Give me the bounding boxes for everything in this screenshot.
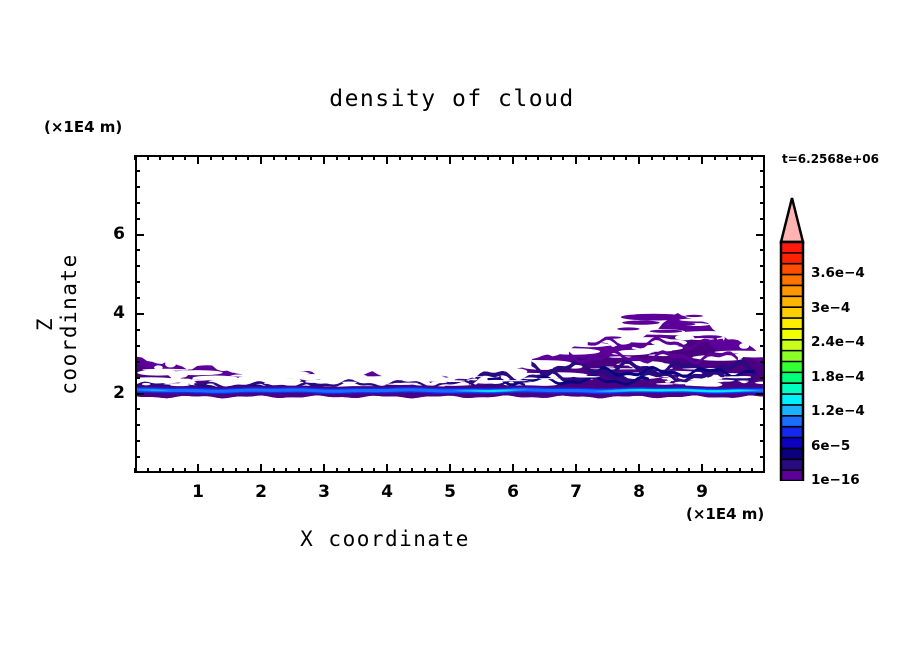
colorbar-tick-label: 6e−5: [811, 438, 850, 454]
colorbar-band: [781, 253, 803, 264]
colorbar-band: [781, 372, 803, 383]
x-tick-label: 6: [493, 482, 533, 502]
x-tick-minor: [562, 468, 564, 473]
cloud-gap: [182, 381, 196, 383]
x-tick-minor: [436, 468, 438, 473]
x-tick-minor: [310, 155, 312, 160]
x-tick-minor: [600, 155, 602, 160]
x-tick-minor: [285, 468, 287, 473]
colorbar-band: [781, 448, 803, 459]
x-tick-major: [323, 155, 325, 164]
y-tick-minor: [760, 440, 765, 442]
cloud-gap: [309, 381, 315, 382]
colorbar-tick-label: 1e−16: [811, 472, 860, 488]
x-tick-major: [512, 155, 514, 164]
cloud-gap: [305, 380, 329, 382]
cloud-gap: [524, 360, 573, 367]
x-tick-minor: [625, 468, 627, 473]
cloud-gap: [471, 379, 477, 381]
cloud-gap: [502, 380, 528, 381]
cloud-gap: [673, 383, 692, 384]
colorbar-band: [781, 416, 803, 427]
x-tick-minor: [663, 468, 665, 473]
cloud-gap: [271, 379, 282, 380]
cloud-gap: [421, 376, 437, 378]
page-title: density of cloud: [0, 86, 904, 112]
x-tick-minor: [247, 468, 249, 473]
colorbar-band: [781, 405, 803, 416]
colorbar-band: [781, 264, 803, 275]
cloud-gap: [142, 383, 151, 385]
plot-area: [135, 155, 765, 473]
cloud-gap: [215, 381, 236, 383]
y-tick-minor: [760, 186, 765, 188]
x-tick-major: [323, 464, 325, 473]
y-tick-label: 6: [85, 224, 125, 244]
colorbar-band: [781, 459, 803, 470]
x-tick-minor: [336, 155, 338, 160]
colorbar-band: [781, 329, 803, 340]
x-tick-minor: [436, 155, 438, 160]
x-tick-minor: [499, 468, 501, 473]
y-tick-major: [135, 393, 144, 395]
colorbar-tick-label: 1.8e−4: [811, 369, 865, 385]
y-tick-major: [756, 313, 765, 315]
x-tick-minor: [361, 468, 363, 473]
colorbar-band: [781, 362, 803, 373]
x-axis-title: X coordinate: [0, 527, 770, 551]
x-tick-minor: [600, 468, 602, 473]
cloud-gap: [342, 382, 357, 384]
y-tick-label: 4: [85, 303, 125, 323]
x-tick-minor: [172, 155, 174, 160]
x-tick-minor: [298, 155, 300, 160]
x-tick-minor: [273, 155, 275, 160]
cloud-gap: [713, 377, 725, 378]
x-tick-minor: [222, 468, 224, 473]
cloud-gap: [691, 334, 701, 335]
colorbar-band: [781, 242, 803, 253]
x-tick-major: [197, 464, 199, 473]
x-tick-minor: [399, 155, 401, 160]
x-tick-minor: [751, 468, 753, 473]
y-tick-minor: [760, 281, 765, 283]
x-tick-minor: [537, 468, 539, 473]
y-tick-minor: [135, 456, 140, 458]
y-tick-major: [756, 393, 765, 395]
x-tick-minor: [159, 468, 161, 473]
x-tick-minor: [310, 468, 312, 473]
x-tick-minor: [537, 155, 539, 160]
x-tick-major: [260, 464, 262, 473]
colorbar-band: [781, 438, 803, 449]
x-tick-minor: [134, 468, 136, 473]
cloud-gap: [363, 378, 385, 380]
x-tick-label: 5: [430, 482, 470, 502]
x-tick-major: [701, 464, 703, 473]
x-tick-minor: [525, 155, 527, 160]
cloud-wisp: [604, 336, 622, 338]
x-tick-major: [449, 155, 451, 164]
y-tick-minor: [135, 281, 140, 283]
y-tick-minor: [135, 202, 140, 204]
x-tick-minor: [550, 468, 552, 473]
cloud-gap: [242, 379, 262, 380]
cloud-gap: [701, 381, 713, 383]
x-tick-label: 4: [367, 482, 407, 502]
colorbar-band: [781, 470, 803, 481]
cloud-gap: [387, 383, 414, 385]
x-tick-minor: [285, 155, 287, 160]
x-tick-minor: [474, 155, 476, 160]
cloud-gap: [739, 343, 749, 349]
colorbar-band: [781, 351, 803, 362]
y-tick-minor: [760, 297, 765, 299]
x-tick-minor: [336, 468, 338, 473]
x-tick-minor: [462, 468, 464, 473]
x-tick-minor: [714, 468, 716, 473]
colorbar-band: [781, 285, 803, 296]
cloud-gap: [541, 352, 551, 355]
colorbar-band: [781, 340, 803, 351]
x-tick-minor: [134, 155, 136, 160]
colorbar-band: [781, 383, 803, 394]
x-tick-minor: [184, 468, 186, 473]
x-tick-minor: [688, 468, 690, 473]
cloud-gap: [679, 318, 720, 321]
cloud-gap: [283, 377, 292, 378]
colorbar-band: [781, 307, 803, 318]
cloud-wisp: [697, 335, 722, 338]
cloud-gap: [220, 383, 228, 385]
x-tick-minor: [210, 155, 212, 160]
cloud-gap: [523, 377, 538, 379]
cloud-wisp: [685, 315, 703, 317]
cloud-gap: [665, 381, 671, 383]
y-tick-minor: [135, 218, 140, 220]
cloud-wisp: [668, 322, 696, 326]
x-tick-label: 8: [619, 482, 659, 502]
x-tick-minor: [714, 155, 716, 160]
x-tick-minor: [550, 155, 552, 160]
colorbar-swatches: [779, 196, 805, 481]
x-tick-minor: [474, 468, 476, 473]
x-tick-major: [512, 464, 514, 473]
y-tick-major: [135, 234, 144, 236]
x-tick-major: [638, 464, 640, 473]
x-tick-label: 7: [556, 482, 596, 502]
x-tick-minor: [525, 468, 527, 473]
cloud-gap: [206, 384, 214, 385]
x-tick-minor: [562, 155, 564, 160]
y-tick-label: 2: [85, 383, 125, 403]
x-tick-minor: [273, 468, 275, 473]
cloud-wisp: [650, 330, 683, 333]
x-tick-minor: [222, 155, 224, 160]
timestamp-label: t=6.2568e+06: [782, 152, 879, 166]
colorbar-tick-label: 3.6e−4: [811, 265, 865, 281]
y-tick-minor: [135, 265, 140, 267]
colorbar: [779, 196, 805, 481]
y-axis-unit-label: (×1E4 m): [44, 118, 122, 136]
y-tick-minor: [135, 329, 140, 331]
x-tick-minor: [739, 155, 741, 160]
y-tick-minor: [135, 377, 140, 379]
cloud-wisp: [622, 320, 660, 324]
cloud-gap: [297, 382, 304, 384]
cloud-gap: [154, 365, 163, 369]
figure-canvas: density of cloud (×1E4 m) t=6.2568e+06 (…: [0, 0, 904, 654]
cloud-gap: [228, 379, 242, 381]
x-tick-major: [197, 155, 199, 164]
y-tick-minor: [760, 424, 765, 426]
x-tick-minor: [235, 468, 237, 473]
cloud-gap: [235, 371, 257, 374]
cloud-gap: [470, 376, 491, 377]
y-tick-minor: [760, 170, 765, 172]
y-tick-minor: [760, 202, 765, 204]
y-tick-minor: [135, 424, 140, 426]
cloud-gap: [282, 379, 302, 381]
x-tick-minor: [676, 155, 678, 160]
y-tick-minor: [135, 186, 140, 188]
y-tick-minor: [760, 456, 765, 458]
x-tick-minor: [688, 155, 690, 160]
x-tick-major: [260, 155, 262, 164]
x-tick-minor: [487, 468, 489, 473]
cloud-gap: [170, 384, 190, 386]
x-tick-minor: [613, 468, 615, 473]
x-tick-minor: [751, 155, 753, 160]
x-tick-minor: [651, 468, 653, 473]
colorbar-tick-label: 1.2e−4: [811, 403, 865, 419]
colorbar-arrow-icon: [781, 198, 803, 242]
cloud-gap: [285, 367, 316, 371]
x-tick-minor: [726, 468, 728, 473]
y-tick-minor: [135, 440, 140, 442]
cloud-gap: [524, 382, 533, 384]
x-tick-minor: [361, 155, 363, 160]
x-tick-minor: [373, 468, 375, 473]
cloud-gap: [192, 378, 200, 379]
x-tick-major: [575, 155, 577, 164]
y-tick-minor: [760, 361, 765, 363]
y-tick-minor: [135, 408, 140, 410]
cloud-wisp: [687, 328, 707, 331]
cloud-gap: [709, 380, 734, 382]
cloud-gap: [264, 382, 281, 384]
cloud-density-contours: [137, 157, 763, 471]
cloud-gap: [168, 372, 187, 378]
x-tick-minor: [247, 155, 249, 160]
x-tick-minor: [147, 155, 149, 160]
cloud-gap: [442, 377, 458, 379]
colorbar-band: [781, 394, 803, 405]
x-axis-unit-label: (×1E4 m): [686, 505, 764, 523]
y-tick-minor: [135, 361, 140, 363]
y-tick-minor: [135, 170, 140, 172]
cloud-gap: [738, 381, 749, 382]
cloud-gap: [171, 379, 179, 381]
contour-field: [137, 157, 763, 471]
cloud-wisp: [621, 314, 686, 321]
x-tick-minor: [726, 155, 728, 160]
x-tick-minor: [235, 155, 237, 160]
x-tick-minor: [172, 468, 174, 473]
cloud-gap: [448, 380, 466, 382]
colorbar-band: [781, 275, 803, 286]
cloud-gap: [538, 378, 560, 379]
x-tick-minor: [625, 155, 627, 160]
colorbar-tick-label: 3e−4: [811, 300, 850, 316]
y-tick-minor: [760, 329, 765, 331]
y-tick-minor: [760, 345, 765, 347]
x-tick-label: 9: [682, 482, 722, 502]
x-tick-major: [638, 155, 640, 164]
cloud-gap: [548, 348, 600, 355]
cloud-gap: [165, 378, 191, 379]
y-tick-minor: [760, 265, 765, 267]
y-tick-minor: [135, 345, 140, 347]
x-tick-minor: [348, 468, 350, 473]
x-tick-minor: [588, 155, 590, 160]
x-tick-minor: [613, 155, 615, 160]
x-tick-label: 2: [241, 482, 281, 502]
y-axis-title: Z coordinate: [33, 244, 81, 404]
y-tick-minor: [135, 297, 140, 299]
x-tick-minor: [348, 155, 350, 160]
x-tick-label: 1: [178, 482, 218, 502]
cloud-gap: [165, 361, 176, 368]
x-tick-minor: [184, 155, 186, 160]
colorbar-band: [781, 296, 803, 307]
x-tick-major: [386, 155, 388, 164]
x-tick-minor: [462, 155, 464, 160]
cloud-gap: [738, 376, 752, 378]
x-tick-major: [701, 155, 703, 164]
x-tick-minor: [159, 155, 161, 160]
x-tick-minor: [424, 155, 426, 160]
y-tick-minor: [760, 249, 765, 251]
x-tick-minor: [487, 155, 489, 160]
x-tick-minor: [147, 468, 149, 473]
x-tick-minor: [663, 155, 665, 160]
y-tick-minor: [760, 377, 765, 379]
x-tick-label: 3: [304, 482, 344, 502]
cloud-gap: [262, 381, 271, 382]
x-tick-minor: [588, 468, 590, 473]
y-tick-minor: [135, 249, 140, 251]
cloud-gap: [229, 375, 273, 376]
x-tick-minor: [411, 468, 413, 473]
y-tick-minor: [760, 218, 765, 220]
colorbar-tick-label: 2.4e−4: [811, 334, 865, 350]
cloud-gap: [431, 381, 447, 383]
x-tick-major: [575, 464, 577, 473]
x-tick-major: [449, 464, 451, 473]
x-tick-minor: [499, 155, 501, 160]
cloud-gap: [573, 376, 600, 378]
colorbar-band: [781, 427, 803, 438]
cloud-gap: [656, 383, 674, 385]
y-tick-major: [756, 234, 765, 236]
y-tick-minor: [760, 408, 765, 410]
x-tick-minor: [399, 468, 401, 473]
cloud-gap: [661, 377, 671, 379]
y-tick-major: [135, 313, 144, 315]
x-tick-minor: [298, 468, 300, 473]
x-tick-minor: [424, 468, 426, 473]
colorbar-band: [781, 318, 803, 329]
x-tick-major: [386, 464, 388, 473]
x-tick-minor: [676, 468, 678, 473]
x-tick-minor: [651, 155, 653, 160]
cloud-wisp: [617, 327, 640, 330]
x-tick-minor: [373, 155, 375, 160]
x-tick-minor: [411, 155, 413, 160]
x-tick-minor: [739, 468, 741, 473]
x-tick-minor: [210, 468, 212, 473]
cloud-gap: [332, 376, 348, 377]
